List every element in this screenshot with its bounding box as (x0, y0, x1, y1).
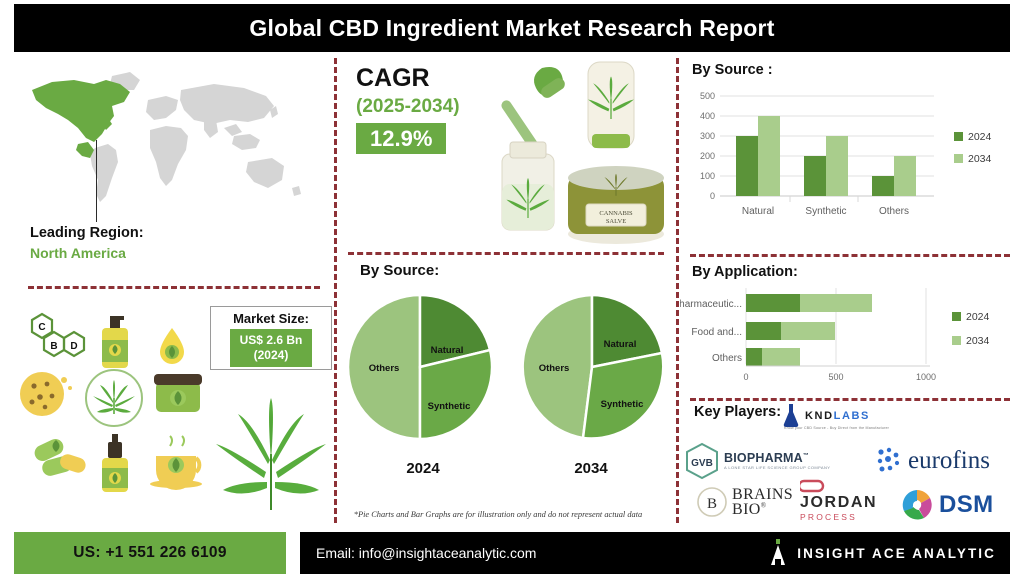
dsm-swirl-icon (900, 488, 934, 522)
svg-text:400: 400 (700, 111, 715, 121)
supplement-bottle-icon (502, 142, 554, 230)
svg-text:Synthetic: Synthetic (805, 206, 846, 217)
kndlabs-tagline: Know your CBD Source - Buy Direct from t… (784, 426, 934, 430)
by-source-bar-title: By Source : (692, 62, 773, 78)
cookie-icon (20, 372, 72, 416)
jordan-process-logo: JORDAN PROCESS (800, 478, 877, 522)
svg-text:Others: Others (369, 363, 400, 374)
divider-horizontal-right-bottom (690, 398, 1010, 401)
pies-title: By Source: (360, 262, 439, 279)
tea-cup-icon (150, 436, 202, 490)
dropper-bottle-icon (102, 434, 128, 492)
brains-bio-logo: B BRAINS BIO® (696, 486, 793, 518)
svg-text:2024: 2024 (968, 131, 992, 143)
svg-text:Others: Others (539, 363, 570, 374)
eurofins-dots-icon (874, 446, 904, 476)
market-size-chip: US$ 2.6 Bn (2024) (230, 329, 313, 367)
svg-text:Natural: Natural (431, 345, 464, 356)
leading-region-label: Leading Region: (30, 224, 310, 242)
insight-ace-mark (768, 539, 788, 567)
pie-caption-2024: 2024 (348, 460, 498, 477)
svg-text:Others: Others (879, 206, 909, 217)
svg-text:B: B (50, 341, 57, 352)
svg-text:C: C (38, 322, 45, 333)
market-size-year: (2024) (240, 348, 303, 363)
divider-vertical-right (676, 58, 679, 523)
infographic-page: Global CBD Ingredient Market Research Re… (0, 0, 1024, 576)
by-application-title: By Application: (692, 264, 798, 280)
svg-text:0: 0 (743, 372, 748, 382)
kndlabs-logo: KNDLABS (782, 402, 870, 428)
world-map (16, 62, 322, 222)
svg-text:0: 0 (710, 191, 715, 201)
svg-text:D: D (70, 341, 77, 352)
cream-tube-icon (588, 62, 634, 148)
divider-horizontal-left (28, 286, 320, 289)
cream-jar-icon (154, 374, 202, 412)
footer-phone: US: +1 551 226 6109 (73, 544, 227, 562)
brand-block: INSIGHT ACE ANALYTIC (768, 532, 996, 574)
svg-text:Pharmaceutic...: Pharmaceutic... (680, 299, 742, 310)
pump-bottle-icon (102, 316, 128, 368)
header-banner: Global CBD Ingredient Market Research Re… (14, 4, 1010, 52)
leading-region-value: North America (30, 244, 310, 262)
leading-region-block: Leading Region: North America (30, 224, 310, 262)
svg-text:1000: 1000 (916, 372, 936, 382)
jordan-link-icon (800, 478, 826, 494)
salve-jar-icon: CANNABIS SALVE (568, 166, 664, 244)
map-leader-line (96, 140, 97, 222)
svg-text:300: 300 (700, 131, 715, 141)
cannabis-leaf-large-icon (205, 392, 337, 518)
eurofins-logo: eurofins (874, 446, 990, 476)
brand-name: INSIGHT ACE ANALYTIC (797, 546, 996, 561)
divider-horizontal-middle (348, 252, 664, 255)
pie-chart-group: Natural Synthetic Others 2024 Natural Sy… (348, 285, 670, 500)
gvb-biopharma-logo: GVB BIOPHARMA™ A LONE STAR LIFE SCIENCE … (684, 442, 830, 480)
pills-icon (32, 436, 88, 477)
svg-text:2034: 2034 (968, 153, 992, 165)
svg-text:GVB: GVB (691, 458, 713, 469)
market-size-value: US$ 2.6 Bn (240, 333, 303, 348)
svg-text:Synthetic: Synthetic (428, 401, 471, 412)
svg-text:100: 100 (700, 171, 715, 181)
market-size-label: Market Size: (233, 311, 309, 326)
page-title: Global CBD Ingredient Market Research Re… (249, 15, 774, 42)
svg-text:CANNABIS: CANNABIS (599, 210, 633, 217)
gvb-hexagon-icon: GVB (684, 442, 720, 480)
divider-horizontal-right-top (690, 254, 1010, 257)
pie-caption-2034: 2034 (516, 460, 666, 477)
footer-black-bar: Email: info@insightaceanalytic.com INSIG… (300, 532, 1010, 574)
dsm-logo: DSM (900, 488, 994, 522)
pie-chart-2034: Natural Synthetic Others 2034 (516, 285, 666, 477)
svg-text:200: 200 (700, 151, 715, 161)
svg-text:B: B (707, 496, 717, 512)
svg-text:500: 500 (700, 91, 715, 101)
footer-email: Email: info@insightaceanalytic.com (316, 545, 536, 561)
footer-phone-box: US: +1 551 226 6109 (14, 532, 286, 574)
by-source-bar-chart: 500 400 300 200 100 0 Natural Synthetic (686, 88, 1016, 228)
key-players-logos: KNDLABS Know your CBD Source - Buy Direc… (686, 404, 1018, 522)
brains-circle-icon: B (696, 486, 728, 518)
svg-text:Others: Others (712, 353, 742, 364)
svg-text:Synthetic: Synthetic (601, 399, 644, 410)
footer-bar: US: +1 551 226 6109 Email: info@insighta… (14, 532, 1010, 574)
svg-text:Food and...: Food and... (691, 327, 742, 338)
cagr-value: 12.9% (356, 123, 446, 154)
market-size-box: Market Size: US$ 2.6 Bn (2024) (210, 306, 332, 370)
by-application-bar-chart: Pharmaceutic... Food and... Others 0 500… (680, 286, 1016, 392)
application-chart-legend: 2024 2034 (952, 311, 990, 347)
flask-icon (782, 402, 800, 428)
bar-chart-legend: 2024 2034 (954, 131, 992, 165)
svg-text:2034: 2034 (966, 335, 990, 347)
svg-text:2024: 2024 (966, 311, 990, 323)
oil-drop-icon (160, 328, 184, 364)
svg-text:SALVE: SALVE (606, 218, 626, 225)
chart-footnote: *Pie Charts and Bar Graphs are for illus… (322, 510, 674, 519)
svg-text:Natural: Natural (604, 339, 637, 350)
pie-chart-2024: Natural Synthetic Others 2024 (348, 285, 498, 477)
svg-text:Natural: Natural (742, 206, 774, 217)
cannabis-leaf-circle-icon (86, 370, 142, 426)
cbd-icon-cluster: C B D (14, 300, 210, 510)
product-illustration: CANNABIS SALVE (480, 58, 676, 248)
svg-text:500: 500 (828, 372, 843, 382)
